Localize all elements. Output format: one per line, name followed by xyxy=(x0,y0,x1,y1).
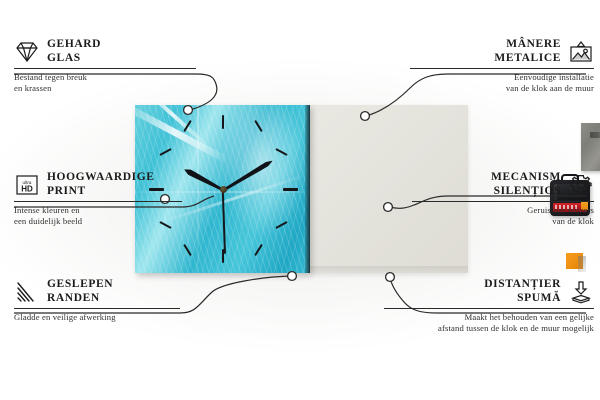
glass-highlight-streak xyxy=(135,105,230,164)
feature-description: Gladde en veilige afwerking xyxy=(14,312,214,323)
spacer-arrow-icon xyxy=(568,280,594,304)
feature-geslepen-randen: GESLEPEN RANDEN Gladde en veilige afwerk… xyxy=(14,278,214,323)
divider xyxy=(14,201,182,202)
feature-description: Maakt het behouden van een gelijke afsta… xyxy=(378,312,594,333)
diamond-icon xyxy=(14,40,40,64)
feature-title: HOOGWAARDIGE PRINT xyxy=(47,171,155,198)
ultra-hd-icon: ultra HD xyxy=(14,173,40,197)
feature-hoogwaardige-print: ultra HD HOOGWAARDIGE PRINT Intense kleu… xyxy=(14,171,214,226)
clock-tick-12 xyxy=(222,115,224,129)
feature-title: MECANISM SILENȚIOS xyxy=(491,171,561,198)
feature-title: GEHARD GLAS xyxy=(47,38,101,65)
clock-tick-2 xyxy=(275,148,287,156)
gear-icon xyxy=(568,173,594,197)
infographic-canvas: GEHARD GLAS Bestand tegen breuk en krass… xyxy=(0,0,600,400)
divider xyxy=(14,308,180,309)
clock-tick-3 xyxy=(283,188,298,191)
divider xyxy=(410,68,594,69)
divider xyxy=(384,308,594,309)
feature-title: GESLEPEN RANDEN xyxy=(47,278,113,305)
svg-text:HD: HD xyxy=(21,184,33,193)
feature-gehard-glas: GEHARD GLAS Bestand tegen breuk en krass… xyxy=(14,38,214,93)
hanger-slot xyxy=(590,132,600,138)
feature-description: Geruisloze wijzers van de klok xyxy=(394,205,594,226)
feature-description: Bestand tegen breuk en krassen xyxy=(14,72,214,93)
beveled-edge-icon xyxy=(14,280,40,304)
clock-tick-7 xyxy=(183,244,192,256)
feature-distantier-spuma: DISTANȚIER SPUMĂ Maakt het behouden van … xyxy=(378,278,594,333)
clock-tick-4 xyxy=(275,221,287,229)
feature-title: MÂNERE METALICE xyxy=(494,38,561,65)
clock-tick-10 xyxy=(159,148,171,156)
metal-hanger-plate xyxy=(581,123,600,171)
feature-title: DISTANȚIER SPUMĂ xyxy=(484,278,561,305)
feature-description: Eenvoudige installatie van de klok aan d… xyxy=(394,72,594,93)
clock-center-hub xyxy=(220,186,227,193)
clock-glass-edge xyxy=(305,105,310,273)
divider xyxy=(412,201,594,202)
feature-manere-metalice: MÂNERE METALICE Eenvoudige installatie v… xyxy=(394,38,594,93)
feature-mecanism-silentios: MECANISM SILENȚIOS Geruisloze wijzers va… xyxy=(394,171,594,226)
clock-tick-1 xyxy=(254,120,263,132)
picture-hanger-icon xyxy=(568,40,594,64)
divider xyxy=(14,68,196,69)
feature-description: Intense kleuren en een duidelijk beeld xyxy=(14,205,214,226)
clock-tick-5 xyxy=(254,244,263,256)
foam-spacer-pad xyxy=(566,253,583,269)
